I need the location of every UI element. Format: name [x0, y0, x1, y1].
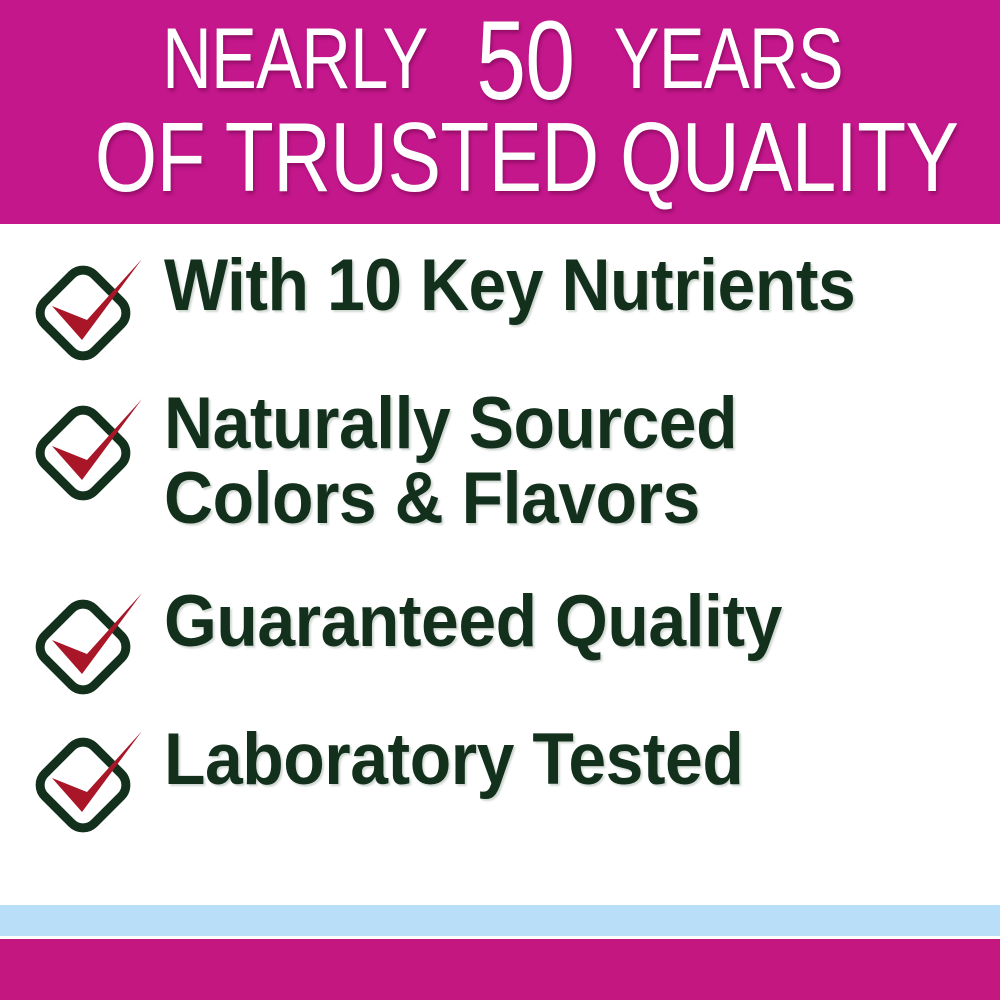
header-word-years: YEARS [614, 16, 843, 102]
feature-list: With 10 Key Nutrients Naturally Sourced … [0, 246, 1000, 858]
list-item-line: Laboratory Tested [164, 724, 941, 796]
list-item-line: Guaranteed Quality [164, 586, 941, 658]
list-item-line: With 10 Key Nutrients [164, 250, 941, 322]
header-word-nearly: NEARLY [162, 16, 427, 102]
header-banner: NEARLY50YEARS OF TRUSTED QUALITY [0, 0, 1000, 224]
check-diamond-icon [30, 254, 150, 364]
list-item: With 10 Key Nutrients [0, 246, 1000, 382]
list-item-line: Naturally Sourced [164, 386, 941, 461]
header-headline-line-2: OF TRUSTED QUALITY [0, 108, 1000, 206]
header-headline-line-1: NEARLY50YEARS [0, 16, 1000, 104]
check-diamond-icon [30, 394, 150, 504]
header-line-2-text: OF TRUSTED QUALITY [95, 108, 958, 206]
list-item-text: Naturally Sourced Colors & Flavors [150, 382, 1000, 536]
check-diamond-icon [30, 726, 150, 836]
list-item-text: Guaranteed Quality [150, 578, 1000, 658]
list-item-text: Laboratory Tested [150, 718, 1000, 796]
list-item-text: With 10 Key Nutrients [150, 246, 1000, 322]
list-item: Guaranteed Quality [0, 578, 1000, 718]
footer-magenta-strip [0, 939, 1000, 1000]
check-diamond-icon [30, 588, 150, 698]
list-item: Naturally Sourced Colors & Flavors [0, 382, 1000, 578]
promo-graphic: NEARLY50YEARS OF TRUSTED QUALITY With 10… [0, 0, 1000, 1000]
footer-blue-strip [0, 905, 1000, 936]
list-item: Laboratory Tested [0, 718, 1000, 858]
header-number-50: 50 [477, 17, 575, 104]
list-item-line: Colors & Flavors [164, 461, 941, 536]
